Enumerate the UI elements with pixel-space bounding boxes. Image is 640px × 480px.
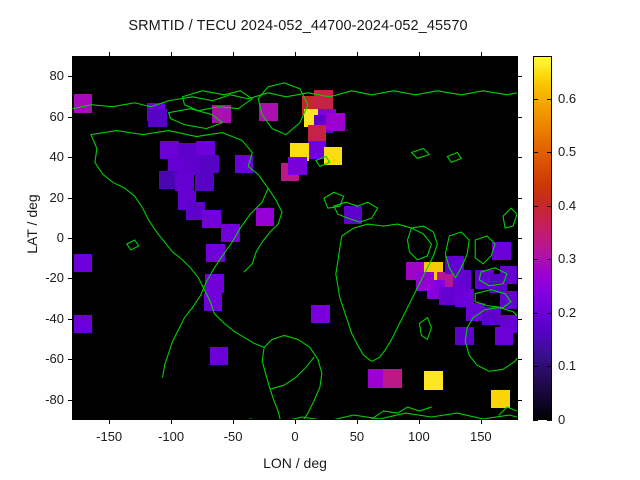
- colorbar-tick: [533, 313, 538, 314]
- colorbar-tick: [533, 420, 538, 421]
- x-axis-tick-label: 150: [451, 429, 511, 444]
- colorbar-tick-label: 0.2: [558, 305, 576, 320]
- colorbar-tick-label: 0.4: [558, 198, 576, 213]
- y-axis-tick-label: -40: [20, 311, 64, 326]
- y-axis-tick: [518, 157, 522, 158]
- data-cell: [212, 105, 231, 123]
- data-cell: [324, 147, 343, 165]
- map-plot-area[interactable]: [72, 56, 518, 420]
- colorbar-tick-label: 0.1: [558, 358, 576, 373]
- colorbar-tick: [533, 366, 538, 367]
- data-cell: [495, 327, 514, 345]
- x-axis-tick: [171, 420, 172, 424]
- y-axis-tick: [68, 319, 72, 320]
- x-axis-tick: [481, 420, 482, 424]
- x-axis-tick: [109, 52, 110, 56]
- chart-title: SRMTID / TECU 2024-052_44700-2024-052_45…: [0, 18, 596, 34]
- y-axis-tick: [68, 359, 72, 360]
- y-axis-tick-label: 80: [20, 68, 64, 83]
- y-axis-tick: [518, 400, 522, 401]
- x-axis-tick: [419, 420, 420, 424]
- colorbar-tick-label: 0.3: [558, 251, 576, 266]
- x-axis-title: LON / deg: [72, 455, 518, 471]
- y-axis-tick: [68, 238, 72, 239]
- data-cell: [195, 173, 214, 191]
- data-cell: [74, 94, 93, 112]
- x-axis-tick-label: -150: [79, 429, 139, 444]
- y-axis-tick: [518, 198, 522, 199]
- x-axis-tick: [357, 420, 358, 424]
- y-axis-tick: [68, 117, 72, 118]
- data-cell: [424, 371, 443, 389]
- colorbar-tick-label: 0.6: [558, 91, 576, 106]
- y-axis-tick-label: 60: [20, 109, 64, 124]
- y-axis-tick: [518, 117, 522, 118]
- data-cell: [492, 242, 511, 260]
- x-axis-tick: [357, 52, 358, 56]
- colorbar-tick-label: 0.5: [558, 144, 576, 159]
- colorbar-tick: [547, 152, 552, 153]
- y-axis-title: LAT / deg: [24, 154, 40, 294]
- colorbar-tick: [547, 206, 552, 207]
- data-cell: [74, 315, 93, 333]
- x-axis-tick: [295, 52, 296, 56]
- y-axis-tick-label: -80: [20, 392, 64, 407]
- x-axis-tick: [481, 52, 482, 56]
- data-cell: [148, 109, 167, 127]
- colorbar[interactable]: [533, 56, 552, 420]
- data-cell: [482, 307, 501, 325]
- colorbar-tick: [533, 99, 538, 100]
- x-axis-tick: [233, 420, 234, 424]
- x-axis-tick: [171, 52, 172, 56]
- data-cell: [204, 293, 223, 311]
- data-cell: [256, 208, 275, 226]
- data-cell: [344, 206, 363, 224]
- data-cell: [200, 155, 219, 173]
- y-axis-tick: [518, 238, 522, 239]
- data-cell: [314, 90, 333, 108]
- data-cell: [383, 369, 402, 387]
- colorbar-tick: [533, 152, 538, 153]
- data-cell: [491, 390, 510, 408]
- x-axis-tick: [233, 52, 234, 56]
- data-cell: [235, 155, 254, 173]
- data-cell: [416, 272, 435, 290]
- x-axis-tick-label: 100: [389, 429, 449, 444]
- data-cell: [259, 103, 278, 121]
- colorbar-tick: [533, 259, 538, 260]
- data-cell: [175, 173, 194, 191]
- y-axis-tick: [518, 278, 522, 279]
- data-cell: [455, 327, 474, 345]
- figure-canvas: SRMTID / TECU 2024-052_44700-2024-052_45…: [0, 0, 640, 480]
- colorbar-tick-label: 0: [558, 412, 565, 427]
- colorbar-tick: [547, 366, 552, 367]
- x-axis-tick-label: 50: [327, 429, 387, 444]
- y-axis-tick: [518, 319, 522, 320]
- colorbar-tick: [547, 99, 552, 100]
- colorbar-tick: [547, 313, 552, 314]
- x-axis-tick-label: 0: [265, 429, 325, 444]
- x-axis-tick: [419, 52, 420, 56]
- colorbar-tick: [533, 206, 538, 207]
- data-cell: [205, 274, 224, 292]
- data-cell: [326, 113, 345, 131]
- colorbar-tick: [547, 420, 552, 421]
- y-axis-tick: [518, 76, 522, 77]
- y-axis-tick: [68, 76, 72, 77]
- y-axis-tick: [68, 400, 72, 401]
- x-axis-tick-label: -100: [141, 429, 201, 444]
- data-cell: [210, 347, 229, 365]
- x-axis-tick: [295, 420, 296, 424]
- y-axis-tick: [68, 157, 72, 158]
- colorbar-tick: [547, 259, 552, 260]
- y-axis-tick: [518, 359, 522, 360]
- x-axis-tick: [109, 420, 110, 424]
- data-cell-layer: [73, 57, 517, 419]
- y-axis-tick: [68, 278, 72, 279]
- data-cell: [288, 157, 307, 175]
- x-axis-tick-label: -50: [203, 429, 263, 444]
- y-axis-tick-label: -60: [20, 351, 64, 366]
- data-cell: [311, 305, 330, 323]
- data-cell: [202, 210, 221, 228]
- data-cell: [74, 254, 93, 272]
- data-cell: [500, 291, 518, 309]
- data-cell: [221, 224, 240, 242]
- data-cell: [206, 244, 225, 262]
- y-axis-tick: [68, 198, 72, 199]
